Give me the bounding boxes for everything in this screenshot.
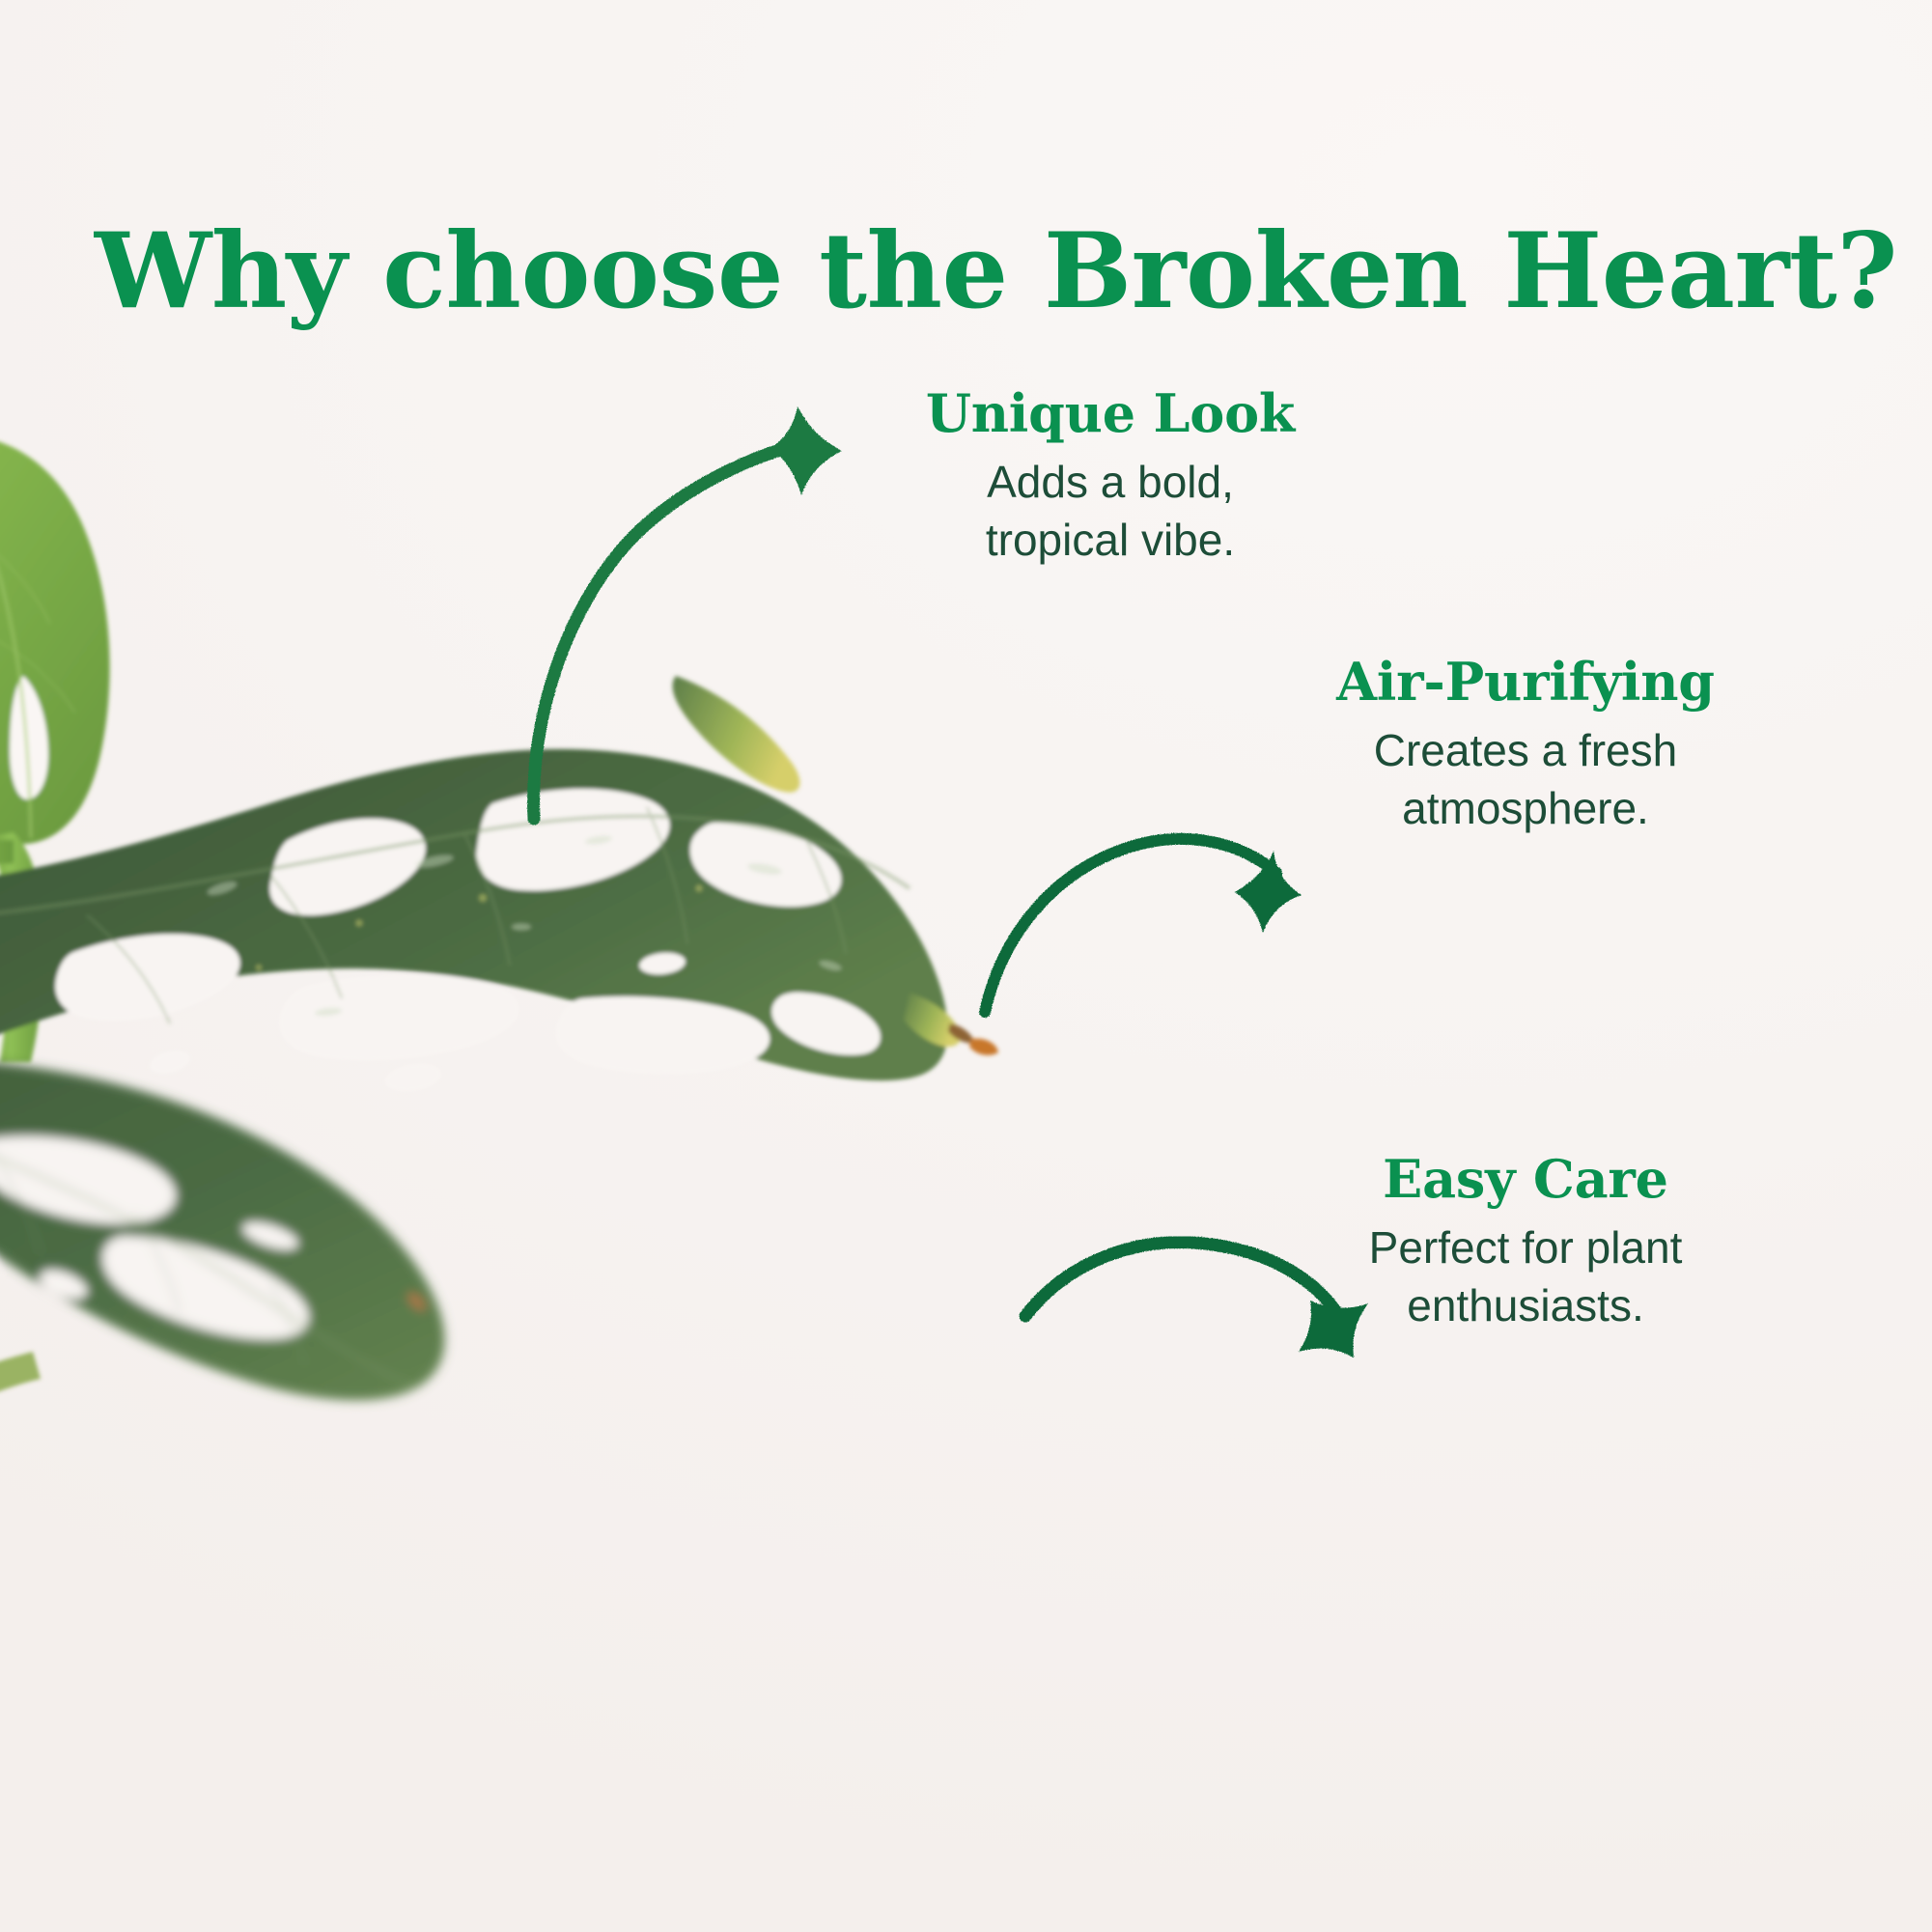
young-leaf bbox=[0, 435, 110, 845]
feature-title: Air-Purifying bbox=[1284, 655, 1767, 709]
feature-title: Unique Look bbox=[869, 386, 1352, 440]
feature-description: Creates a fresh atmosphere. bbox=[1284, 722, 1767, 838]
feature-callout-easy-care: Easy Care Perfect for plant enthusiasts. bbox=[1284, 1152, 1767, 1335]
feature-description: Perfect for plant enthusiasts. bbox=[1284, 1219, 1767, 1335]
feature-callout-air-purifying: Air-Purifying Creates a fresh atmosphere… bbox=[1284, 655, 1767, 838]
lower-monstera-leaf bbox=[0, 1059, 445, 1400]
marketing-poster: Why choose the Broken Heart? Unique Look… bbox=[0, 0, 1932, 1932]
main-monstera-leaf bbox=[0, 749, 998, 1096]
page-title: Why choose the Broken Heart? bbox=[95, 216, 1833, 326]
feature-callout-unique-look: Unique Look Adds a bold, tropical vibe. bbox=[869, 386, 1352, 570]
feature-title: Easy Care bbox=[1284, 1152, 1767, 1206]
feature-description: Adds a bold, tropical vibe. bbox=[869, 454, 1352, 570]
